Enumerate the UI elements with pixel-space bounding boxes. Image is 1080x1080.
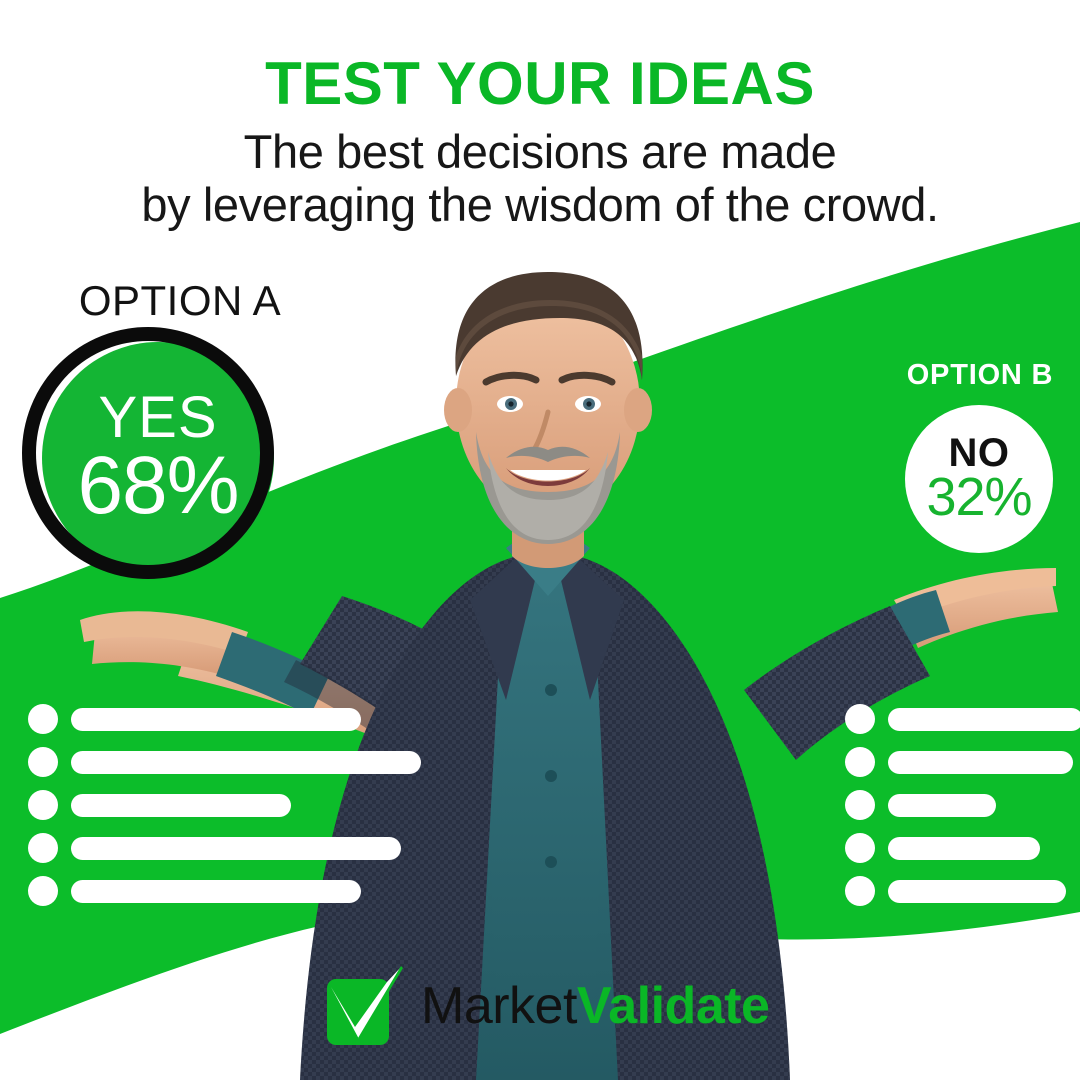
list-item [845,704,1080,734]
bullet-dot-icon [845,704,875,734]
bullet-dot-icon [28,790,58,820]
bullet-dot-icon [845,790,875,820]
brand-wordmark: MarketValidate [421,980,769,1032]
list-item [845,876,1080,906]
list-item [28,704,421,734]
bullet-bar [888,880,1066,903]
list-item [28,747,421,777]
brand-word-market: Market [421,977,577,1035]
bullet-bar [888,751,1073,774]
bullet-bar [888,708,1080,731]
brand-word-validate: Validate [577,977,770,1035]
bullet-dot-icon [28,704,58,734]
list-item [845,747,1080,777]
bullet-dot-icon [845,876,875,906]
option-a-percent: 68% [77,447,238,526]
bullet-dot-icon [28,876,58,906]
bullet-bar [888,794,996,817]
option-a-label: OPTION A [55,277,305,325]
option-a-answer: YES [98,390,217,446]
head [444,272,652,568]
bullet-dot-icon [845,747,875,777]
list-item [28,833,421,863]
bullet-bar [71,751,421,774]
list-item [28,790,421,820]
bullet-bar [71,880,361,903]
check-square-icon [325,965,403,1047]
brand-logo[interactable]: MarketValidate [325,965,769,1047]
poster-canvas: TEST YOUR IDEAS The best decisions are m… [0,0,1080,1080]
option-a-badge[interactable]: YES 68% [42,342,274,574]
list-item [28,876,421,906]
bullet-bar [888,837,1040,860]
bullet-list-right [845,704,1080,919]
option-b-percent: 32% [926,472,1031,523]
bullet-dot-icon [28,833,58,863]
bullet-dot-icon [845,833,875,863]
bullet-dot-icon [28,747,58,777]
bullet-bar [71,794,291,817]
list-item [845,790,1080,820]
option-b-label: OPTION B [880,359,1080,392]
option-b-badge[interactable]: NO 32% [905,405,1053,553]
bullet-bar [71,708,361,731]
bullet-list-left [28,704,421,919]
bullet-bar [71,837,401,860]
list-item [845,833,1080,863]
